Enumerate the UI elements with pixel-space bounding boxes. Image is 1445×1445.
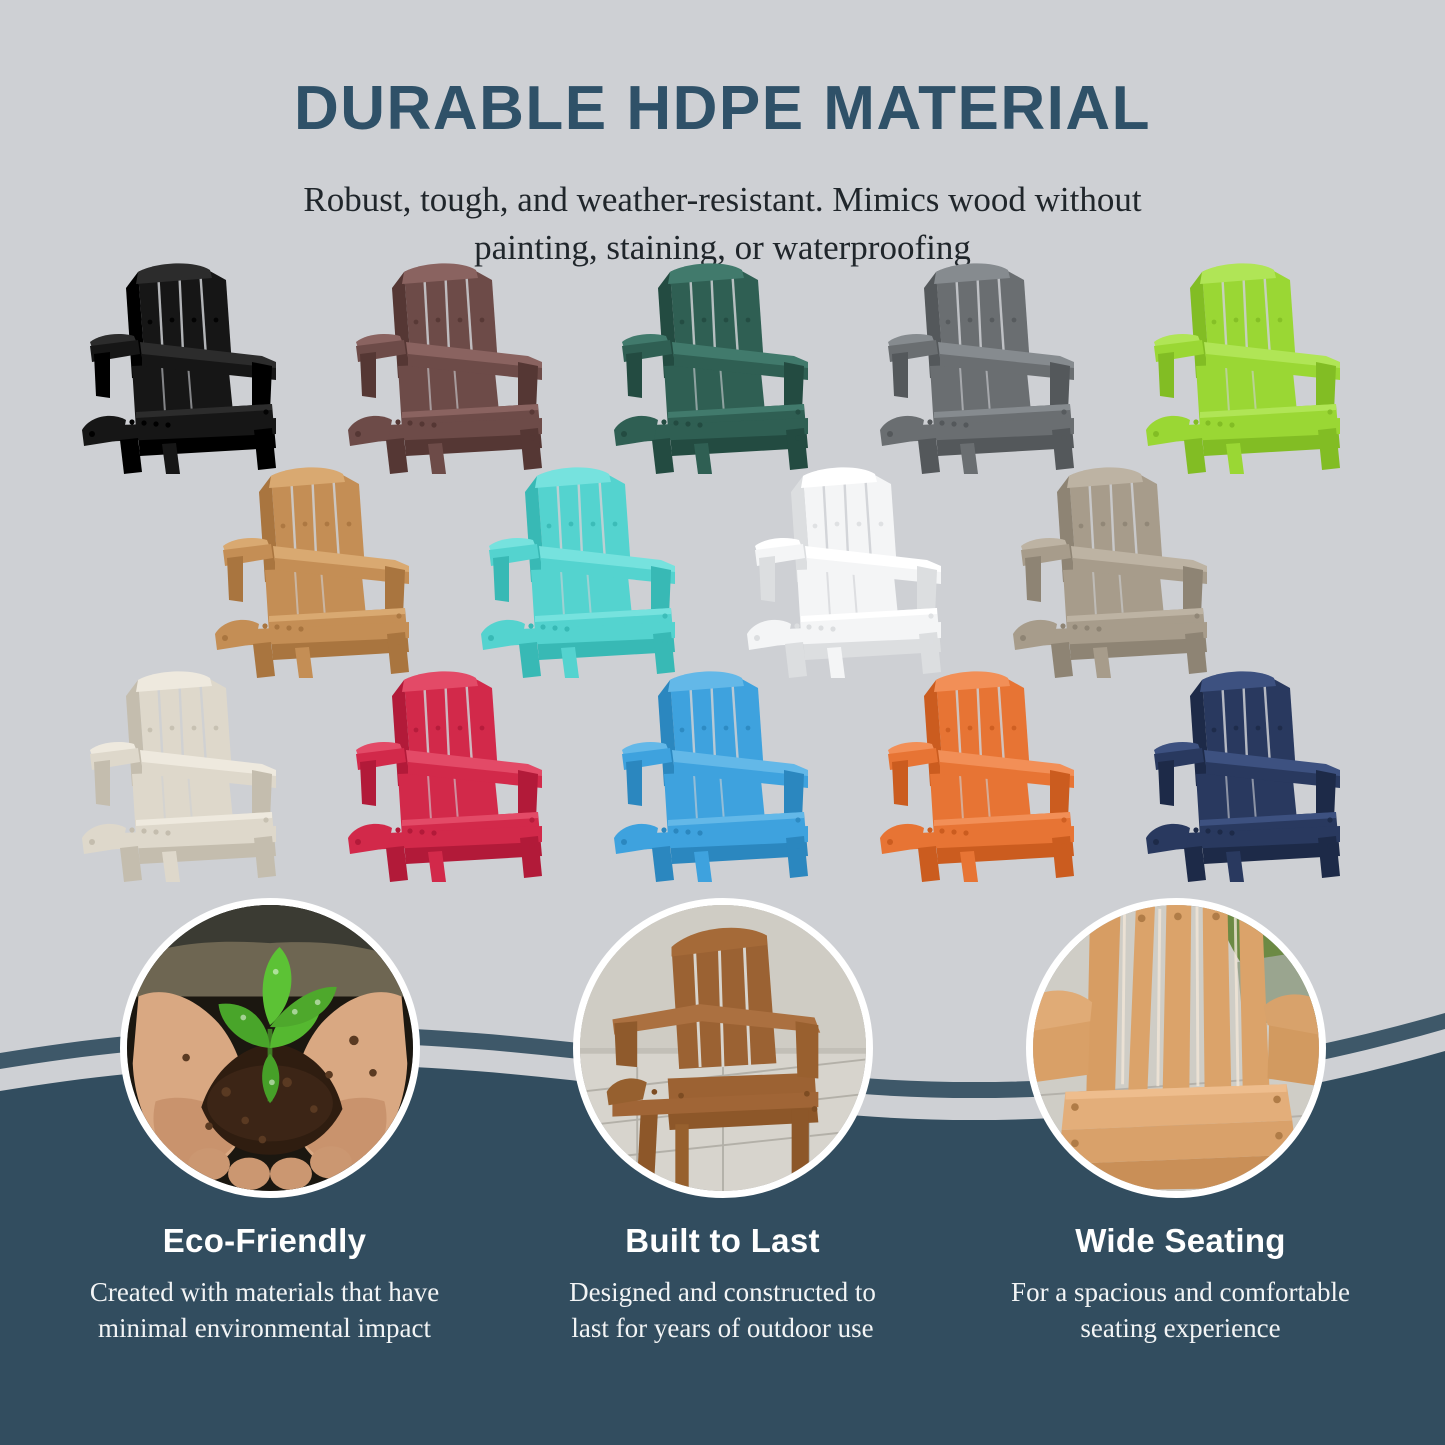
feature-desc-line-2: last for years of outdoor use	[528, 1310, 918, 1346]
feature-description: Designed and constructed to last for yea…	[528, 1274, 918, 1347]
chair-color-grid	[0, 262, 1445, 882]
adirondack-chair-icon	[1140, 670, 1370, 882]
chair-swatch-white[interactable]	[741, 466, 971, 678]
feature-description: For a spacious and comfortable seating e…	[986, 1274, 1376, 1347]
adirondack-chair-icon	[874, 670, 1104, 882]
circle-photo-row	[0, 898, 1445, 1198]
feature-desc-line-1: For a spacious and comfortable	[986, 1274, 1376, 1310]
chair-swatch-navy-blue[interactable]	[1140, 670, 1370, 882]
infographic-page: DURABLE HDPE MATERIAL Robust, tough, and…	[0, 0, 1445, 1445]
chair-swatch-blue[interactable]	[608, 670, 838, 882]
chair-row-1	[76, 262, 1370, 474]
feature-title: Eco-Friendly	[70, 1222, 460, 1260]
wide-seat-closeup-photo	[1026, 898, 1326, 1198]
chair-swatch-dark-green[interactable]	[608, 262, 838, 474]
adirondack-chair-icon	[1007, 466, 1237, 678]
adirondack-chair-icon	[342, 670, 572, 882]
adirondack-chair-icon	[475, 466, 705, 678]
hands-holding-seedling-photo	[120, 898, 420, 1198]
page-subtitle: Robust, tough, and weather-resistant. Mi…	[223, 176, 1223, 273]
chair-swatch-teak[interactable]	[209, 466, 439, 678]
adirondack-chair-icon	[1140, 262, 1370, 474]
chair-swatch-turquoise[interactable]	[475, 466, 705, 678]
chair-swatch-orange[interactable]	[874, 670, 1104, 882]
subtitle-line-1: Robust, tough, and weather-resistant. Mi…	[223, 176, 1223, 224]
adirondack-chair-icon	[874, 262, 1104, 474]
adirondack-chair-icon	[741, 466, 971, 678]
feature-card-built-to-last: Built to Last Designed and constructed t…	[528, 1222, 918, 1347]
chair-row-2	[209, 466, 1237, 678]
feature-desc-line-2: seating experience	[986, 1310, 1376, 1346]
feature-card-row: Eco-Friendly Created with materials that…	[0, 1222, 1445, 1347]
brown-chair-on-patio-photo	[573, 898, 873, 1198]
chair-swatch-black[interactable]	[76, 262, 306, 474]
feature-description: Created with materials that have minimal…	[70, 1274, 460, 1347]
adirondack-chair-icon	[76, 262, 306, 474]
feature-desc-line-2: minimal environmental impact	[70, 1310, 460, 1346]
page-title: DURABLE HDPE MATERIAL	[0, 78, 1445, 140]
chair-swatch-brown[interactable]	[342, 262, 572, 474]
chair-swatch-lime-green[interactable]	[1140, 262, 1370, 474]
chair-swatch-red[interactable]	[342, 670, 572, 882]
adirondack-chair-icon	[76, 670, 306, 882]
chair-swatch-ivory[interactable]	[76, 670, 306, 882]
adirondack-chair-icon	[608, 262, 838, 474]
header: DURABLE HDPE MATERIAL Robust, tough, and…	[0, 0, 1445, 273]
adirondack-chair-icon	[209, 466, 439, 678]
adirondack-chair-icon	[342, 262, 572, 474]
chair-swatch-gray[interactable]	[874, 262, 1104, 474]
feature-desc-line-1: Created with materials that have	[70, 1274, 460, 1310]
feature-card-wide-seating: Wide Seating For a spacious and comforta…	[986, 1222, 1376, 1347]
feature-title: Built to Last	[528, 1222, 918, 1260]
chair-swatch-weathered-wood[interactable]	[1007, 466, 1237, 678]
feature-card-eco-friendly: Eco-Friendly Created with materials that…	[70, 1222, 460, 1347]
feature-desc-line-1: Designed and constructed to	[528, 1274, 918, 1310]
adirondack-chair-icon	[608, 670, 838, 882]
chair-row-3	[76, 670, 1370, 882]
feature-title: Wide Seating	[986, 1222, 1376, 1260]
